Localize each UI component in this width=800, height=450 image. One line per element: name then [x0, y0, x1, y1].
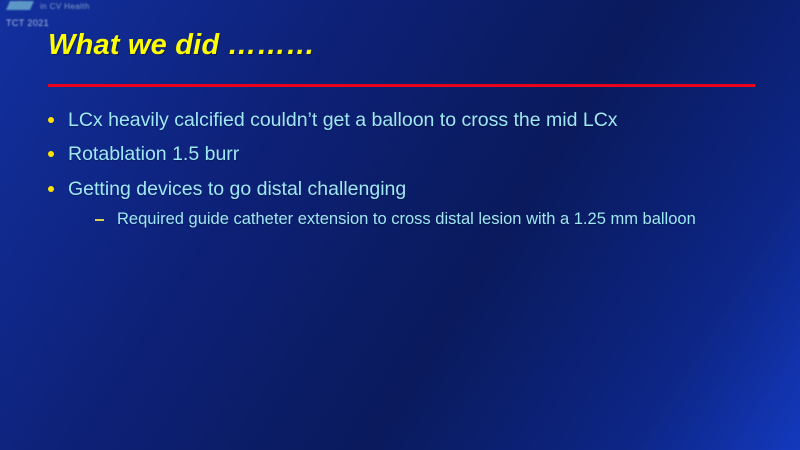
slide-body: LCx heavily calcified couldn’t get a bal… — [46, 108, 762, 239]
bullet-dot-icon — [48, 186, 54, 192]
sub-list-item: Required guide catheter extension to cro… — [93, 208, 757, 230]
organization-logo-icon — [8, 0, 34, 12]
sub-list-item-label: Required guide catheter extension to cro… — [117, 210, 696, 228]
footer-logo-left: Leaders in CV Health — [8, 0, 800, 12]
footer-logo-left-label: Leaders in CV Health — [40, 0, 90, 11]
bullet-dot-icon — [48, 117, 54, 123]
list-item: LCx heavily calcified couldn’t get a bal… — [46, 108, 762, 133]
footer-logo-right: TCT 2021 — [0, 12, 784, 34]
list-item: Rotablation 1.5 burr — [46, 142, 762, 167]
bullet-list: LCx heavily calcified couldn’t get a bal… — [46, 108, 762, 230]
list-item-label: Rotablation 1.5 burr — [68, 143, 239, 165]
footer-logo-right-label: TCT 2021 — [6, 18, 49, 28]
bullet-dot-icon — [48, 151, 54, 157]
title-divider-rule — [48, 84, 755, 87]
list-item-label: LCx heavily calcified couldn’t get a bal… — [68, 109, 618, 131]
footer-logo-left-line2: in CV Health — [40, 2, 90, 11]
sub-bullet-list: Required guide catheter extension to cro… — [68, 208, 762, 230]
list-item: Getting devices to go distal challenging… — [46, 177, 762, 230]
bullet-dash-icon — [95, 219, 104, 221]
list-item-label: Getting devices to go distal challenging — [68, 178, 406, 200]
presentation-slide: What we did ……… LCx heavily calcified co… — [0, 0, 800, 450]
